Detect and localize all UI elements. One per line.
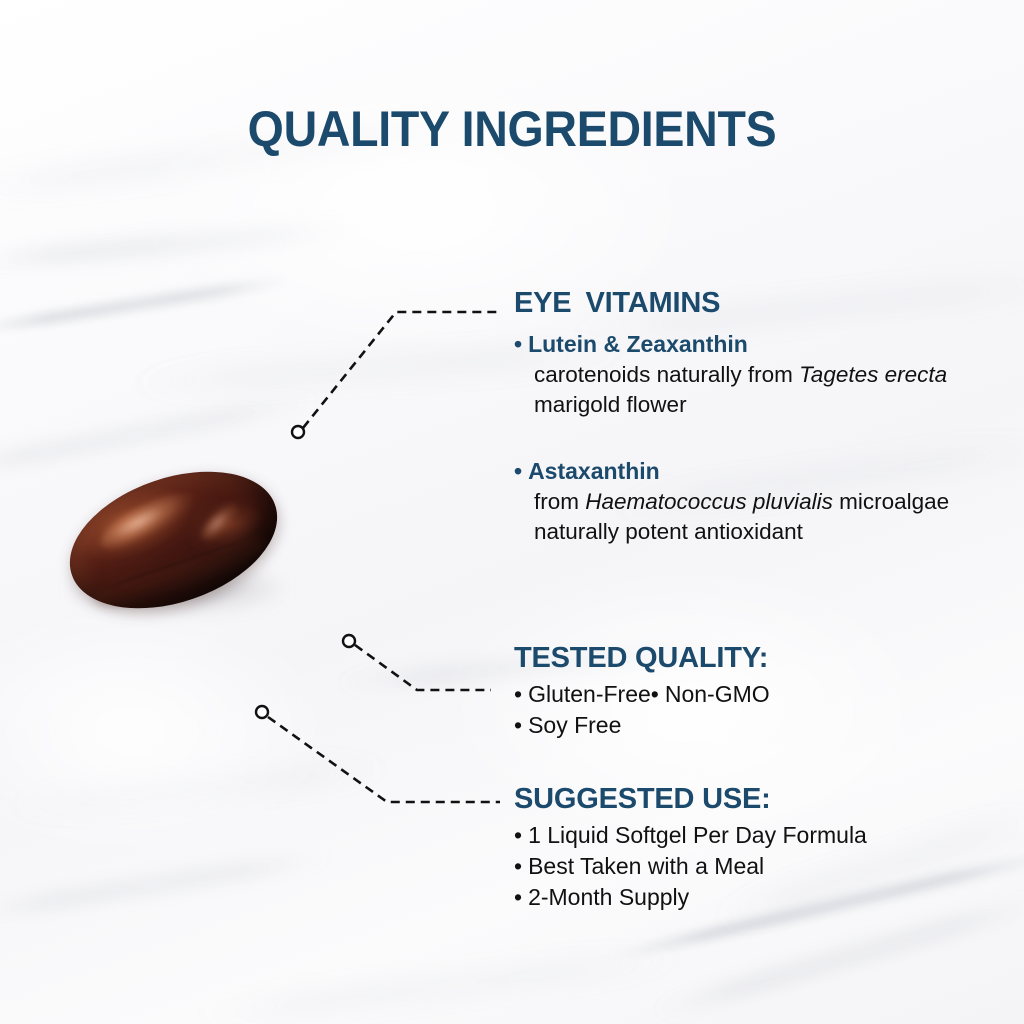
heading-word-eye: EYE <box>514 287 571 319</box>
section-suggested-use: SUGGESTED USE: •1 Liquid Softgel Per Day… <box>514 783 867 913</box>
suggested-use-item: •2-Month Supply <box>514 882 867 913</box>
softgel-capsule <box>66 478 281 613</box>
ingredient-astaxanthin-description-line2: naturally potent antioxidant <box>514 517 949 547</box>
claim-label: Soy Free <box>528 712 621 738</box>
tested-quality-row-1: •Gluten-Free•Non-GMO <box>514 679 770 710</box>
desc-text: carotenoids naturally from <box>534 362 799 387</box>
desc-text-post: microalgae <box>833 489 949 514</box>
claim-label: Gluten-Free <box>528 681 651 707</box>
ingredient-lutein-description-line2: marigold flower <box>514 390 947 420</box>
ingredient-name: Astaxanthin <box>528 458 660 484</box>
bullet-icon: • <box>514 712 522 738</box>
bullet-icon: • <box>514 884 522 910</box>
section-heading-eye-vitamins: EYEVITAMINS <box>514 287 947 320</box>
infographic-canvas: QUALITY INGREDIENTS EYEVITAMINS •Lutein … <box>0 0 1024 1024</box>
section-heading-suggested-use: SUGGESTED USE: <box>514 783 867 816</box>
page-title: QUALITY INGREDIENTS <box>36 100 988 158</box>
use-label: 2-Month Supply <box>528 884 689 910</box>
bullet-icon: • <box>514 822 522 848</box>
section-heading-tested-quality: TESTED QUALITY: <box>514 642 770 675</box>
ingredient-astaxanthin: •Astaxanthin <box>514 456 949 487</box>
desc-text-pre: from <box>534 489 585 514</box>
scientific-name: Tagetes erecta <box>799 362 947 387</box>
bullet-icon: • <box>651 681 659 707</box>
suggested-use-item: •1 Liquid Softgel Per Day Formula <box>514 820 867 851</box>
use-label: Best Taken with a Meal <box>528 853 764 879</box>
bullet-icon: • <box>514 331 522 357</box>
heading-word-vitamins: VITAMINS <box>585 287 720 319</box>
section-eye-vitamins: EYEVITAMINS •Lutein & Zeaxanthin caroten… <box>514 287 947 420</box>
section-astaxanthin: •Astaxanthin from Haematococcus pluviali… <box>514 456 949 547</box>
claim-label: Non-GMO <box>665 681 770 707</box>
use-label: 1 Liquid Softgel Per Day Formula <box>528 822 867 848</box>
bullet-icon: • <box>514 853 522 879</box>
ingredient-name: Lutein & Zeaxanthin <box>528 331 748 357</box>
claim-non-gmo: •Non-GMO <box>651 679 770 710</box>
ingredient-astaxanthin-description-line1: from Haematococcus pluvialis microalgae <box>514 487 949 517</box>
scientific-name: Haematococcus pluvialis <box>585 489 833 514</box>
ingredient-lutein: •Lutein & Zeaxanthin <box>514 329 947 360</box>
bullet-icon: • <box>514 681 522 707</box>
claim-gluten-free: •Gluten-Free <box>514 679 651 710</box>
ingredient-lutein-description-line1: carotenoids naturally from Tagetes erect… <box>514 360 947 390</box>
section-tested-quality: TESTED QUALITY: •Gluten-Free•Non-GMO •So… <box>514 642 770 741</box>
claim-soy-free: •Soy Free <box>514 710 770 741</box>
bullet-icon: • <box>514 458 522 484</box>
suggested-use-item: •Best Taken with a Meal <box>514 851 867 882</box>
